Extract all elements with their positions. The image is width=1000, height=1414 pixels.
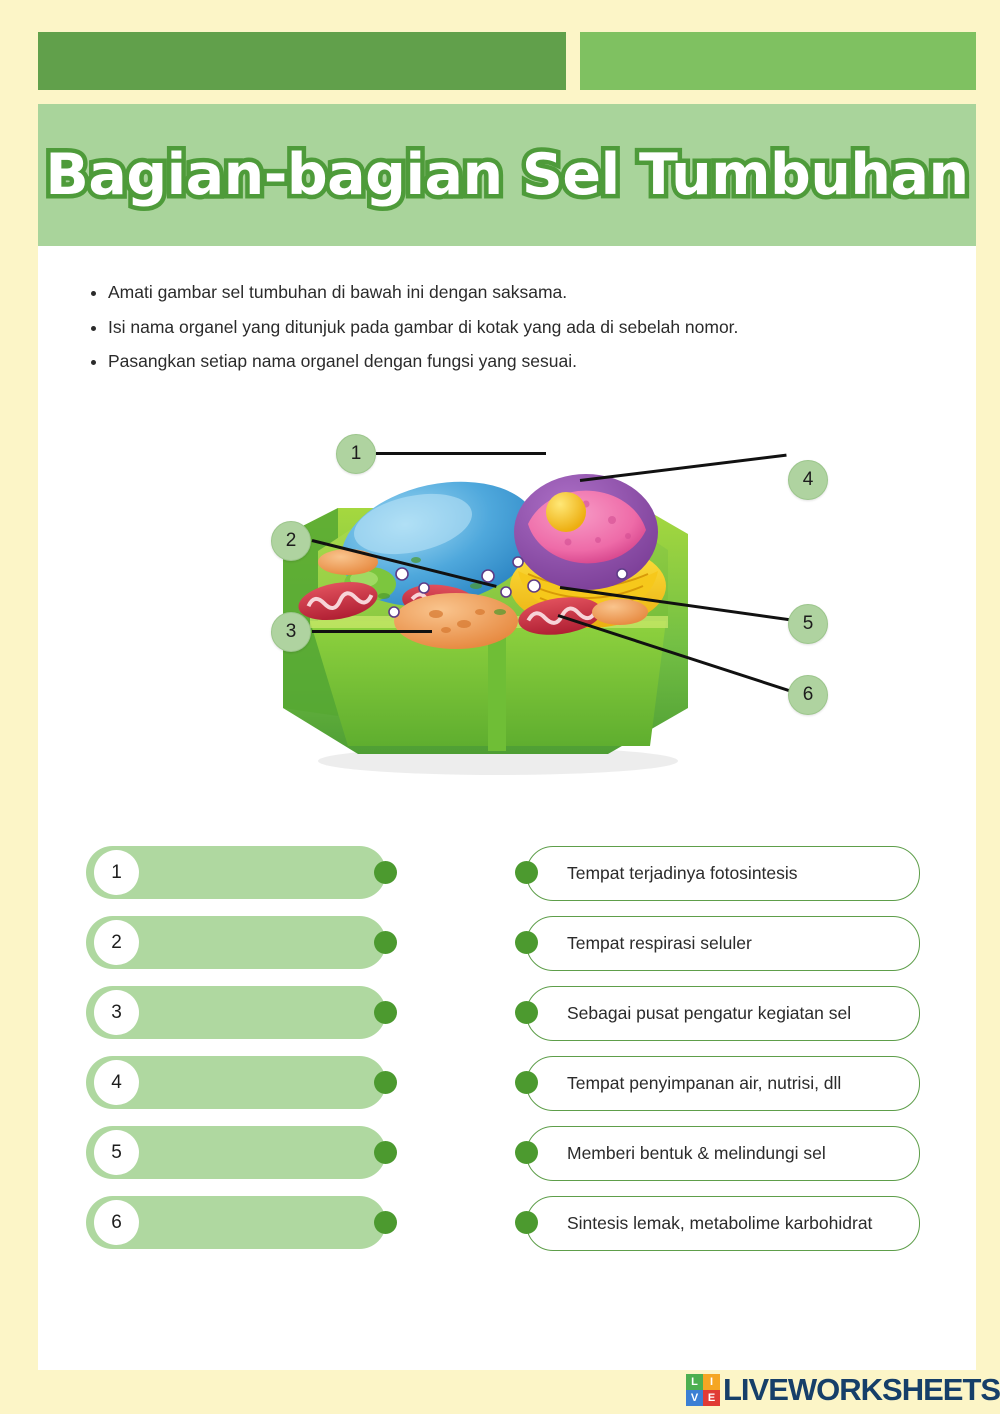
connector-dot-right-2[interactable]: [515, 931, 538, 954]
callout-1[interactable]: 1: [336, 434, 376, 474]
answer-number-bubble: 6: [94, 1200, 139, 1245]
logo-tile-e: E: [703, 1390, 720, 1406]
connector-dot-right-4[interactable]: [515, 1071, 538, 1094]
worksheet-paper: Amati gambar sel tumbuhan di bawah ini d…: [38, 246, 976, 1370]
connector-dot-left-4[interactable]: [374, 1071, 397, 1094]
answer-number: 1: [111, 862, 122, 884]
answer-pill-4[interactable]: 4: [86, 1056, 386, 1109]
logo-wordmark: LIVEWORKSHEETS: [723, 1372, 1000, 1408]
plant-cell-illustration: [188, 416, 828, 776]
callout-5[interactable]: 5: [788, 604, 828, 644]
function-label: Memberi bentuk & melindungi sel: [567, 1143, 826, 1164]
matching-section: 1 Tempat terjadinya fotosintesis 2 Tempa…: [86, 846, 932, 1266]
function-pill-1[interactable]: Tempat terjadinya fotosintesis: [526, 846, 920, 901]
answer-pill-3[interactable]: 3: [86, 986, 386, 1039]
leader-line-1: [376, 452, 546, 455]
answer-number-bubble: 3: [94, 990, 139, 1035]
instruction-item: Pasangkan setiap nama organel dengan fun…: [108, 353, 906, 371]
matching-row: 6 Sintesis lemak, metabolime karbohidrat: [86, 1196, 932, 1266]
connector-dot-right-5[interactable]: [515, 1141, 538, 1164]
connector-dot-right-3[interactable]: [515, 1001, 538, 1024]
function-pill-6[interactable]: Sintesis lemak, metabolime karbohidrat: [526, 1196, 920, 1251]
connector-dot-right-1[interactable]: [515, 861, 538, 884]
answer-number-bubble: 2: [94, 920, 139, 965]
header-bar-right: [580, 32, 976, 90]
connector-dot-left-3[interactable]: [374, 1001, 397, 1024]
callout-label: 3: [286, 621, 297, 643]
function-label: Sebagai pusat pengatur kegiatan sel: [567, 1003, 851, 1024]
instruction-item: Amati gambar sel tumbuhan di bawah ini d…: [108, 284, 906, 302]
function-pill-2[interactable]: Tempat respirasi seluler: [526, 916, 920, 971]
logo-tiles-icon: L I V E: [686, 1374, 720, 1406]
callout-label: 2: [286, 530, 297, 552]
connector-dot-left-1[interactable]: [374, 861, 397, 884]
answer-number: 6: [111, 1212, 122, 1234]
answer-number: 2: [111, 932, 122, 954]
matching-row: 5 Memberi bentuk & melindungi sel: [86, 1126, 932, 1196]
connector-dot-left-6[interactable]: [374, 1211, 397, 1234]
answer-pill-6[interactable]: 6: [86, 1196, 386, 1249]
function-label: Tempat terjadinya fotosintesis: [567, 863, 798, 884]
logo-tile-i: I: [703, 1374, 720, 1390]
callout-2[interactable]: 2: [271, 521, 311, 561]
answer-pill-5[interactable]: 5: [86, 1126, 386, 1179]
function-label: Sintesis lemak, metabolime karbohidrat: [567, 1213, 872, 1234]
matching-row: 3 Sebagai pusat pengatur kegiatan sel: [86, 986, 932, 1056]
matching-row: 1 Tempat terjadinya fotosintesis: [86, 846, 932, 916]
function-pill-4[interactable]: Tempat penyimpanan air, nutrisi, dll: [526, 1056, 920, 1111]
callout-label: 1: [351, 443, 362, 465]
logo-tile-v: V: [686, 1390, 703, 1406]
answer-number: 4: [111, 1072, 122, 1094]
answer-number: 3: [111, 1002, 122, 1024]
callout-label: 4: [803, 469, 814, 491]
nucleolus: [546, 492, 586, 532]
matching-row: 2 Tempat respirasi seluler: [86, 916, 932, 986]
header-bars: [38, 32, 976, 90]
function-label: Tempat respirasi seluler: [567, 933, 752, 954]
answer-number-bubble: 1: [94, 850, 139, 895]
callout-3[interactable]: 3: [271, 612, 311, 652]
connector-dot-left-2[interactable]: [374, 931, 397, 954]
connector-dot-right-6[interactable]: [515, 1211, 538, 1234]
answer-pill-2[interactable]: 2: [86, 916, 386, 969]
leader-line-3: [312, 630, 432, 633]
answer-number: 5: [111, 1142, 122, 1164]
function-pill-5[interactable]: Memberi bentuk & melindungi sel: [526, 1126, 920, 1181]
nucleus: [514, 474, 658, 590]
liveworksheets-logo: L I V E LIVEWORKSHEETS: [686, 1372, 1000, 1408]
answer-number-bubble: 4: [94, 1060, 139, 1105]
answer-pill-1[interactable]: 1: [86, 846, 386, 899]
matching-row: 4 Tempat penyimpanan air, nutrisi, dll: [86, 1056, 932, 1126]
callout-4[interactable]: 4: [788, 460, 828, 500]
connector-dot-left-5[interactable]: [374, 1141, 397, 1164]
callout-label: 6: [803, 684, 814, 706]
function-pill-3[interactable]: Sebagai pusat pengatur kegiatan sel: [526, 986, 920, 1041]
title-banner: Bagian-bagian Sel Tumbuhan: [38, 104, 976, 246]
answer-number-bubble: 5: [94, 1130, 139, 1175]
page-title: Bagian-bagian Sel Tumbuhan: [45, 142, 968, 208]
header-bar-left: [38, 32, 566, 90]
instruction-item: Isi nama organel yang ditunjuk pada gamb…: [108, 319, 906, 337]
plant-cell-diagram: 1 2 3 4 5 6: [188, 416, 828, 776]
callout-label: 5: [803, 613, 814, 635]
callout-6[interactable]: 6: [788, 675, 828, 715]
logo-tile-l: L: [686, 1374, 703, 1390]
function-label: Tempat penyimpanan air, nutrisi, dll: [567, 1073, 841, 1094]
instructions-block: Amati gambar sel tumbuhan di bawah ini d…: [86, 284, 906, 388]
